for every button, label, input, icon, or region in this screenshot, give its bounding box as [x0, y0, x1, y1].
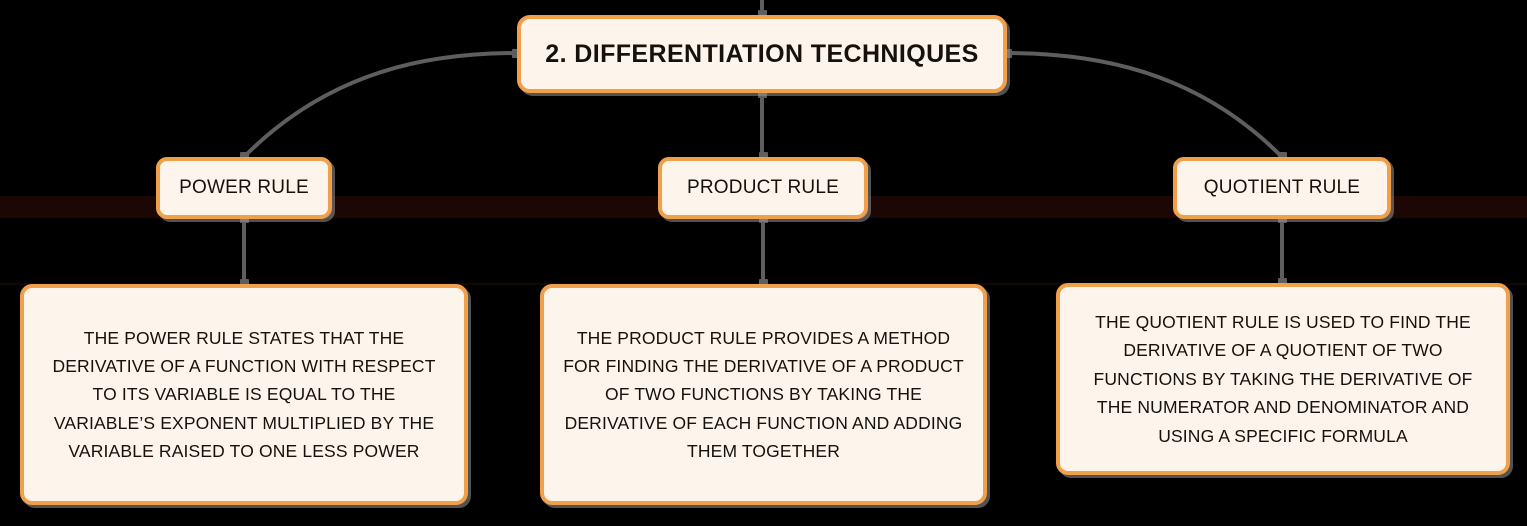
- description-node-quotient-rule-text: THE QUOTIENT RULE IS USED TO FIND THE DE…: [1076, 308, 1490, 450]
- branch-node-power-rule[interactable]: POWER RULE: [156, 157, 332, 219]
- branch-node-quotient-rule[interactable]: QUOTIENT RULE: [1173, 157, 1391, 219]
- description-node-power-rule-text: THE POWER RULE STATES THAT THE DERIVATIV…: [40, 324, 448, 466]
- connector-root-to-quotient: [1007, 53, 1282, 157]
- branch-node-power-rule-label: POWER RULE: [179, 177, 309, 199]
- root-node-label: 2. DIFFERENTIATION TECHNIQUES: [545, 40, 978, 69]
- mindmap-canvas: 2. DIFFERENTIATION TECHNIQUES POWER RULE…: [0, 0, 1527, 526]
- description-node-product-rule-text: THE PRODUCT RULE PROVIDES A METHOD FOR F…: [560, 324, 967, 466]
- root-node[interactable]: 2. DIFFERENTIATION TECHNIQUES: [517, 15, 1007, 93]
- description-node-power-rule[interactable]: THE POWER RULE STATES THAT THE DERIVATIV…: [20, 284, 468, 505]
- connector-root-to-power: [244, 53, 517, 157]
- description-node-quotient-rule[interactable]: THE QUOTIENT RULE IS USED TO FIND THE DE…: [1056, 283, 1510, 475]
- branch-node-product-rule[interactable]: PRODUCT RULE: [658, 157, 868, 219]
- branch-node-quotient-rule-label: QUOTIENT RULE: [1204, 177, 1360, 199]
- branch-node-product-rule-label: PRODUCT RULE: [687, 177, 839, 199]
- description-node-product-rule[interactable]: THE PRODUCT RULE PROVIDES A METHOD FOR F…: [540, 284, 987, 505]
